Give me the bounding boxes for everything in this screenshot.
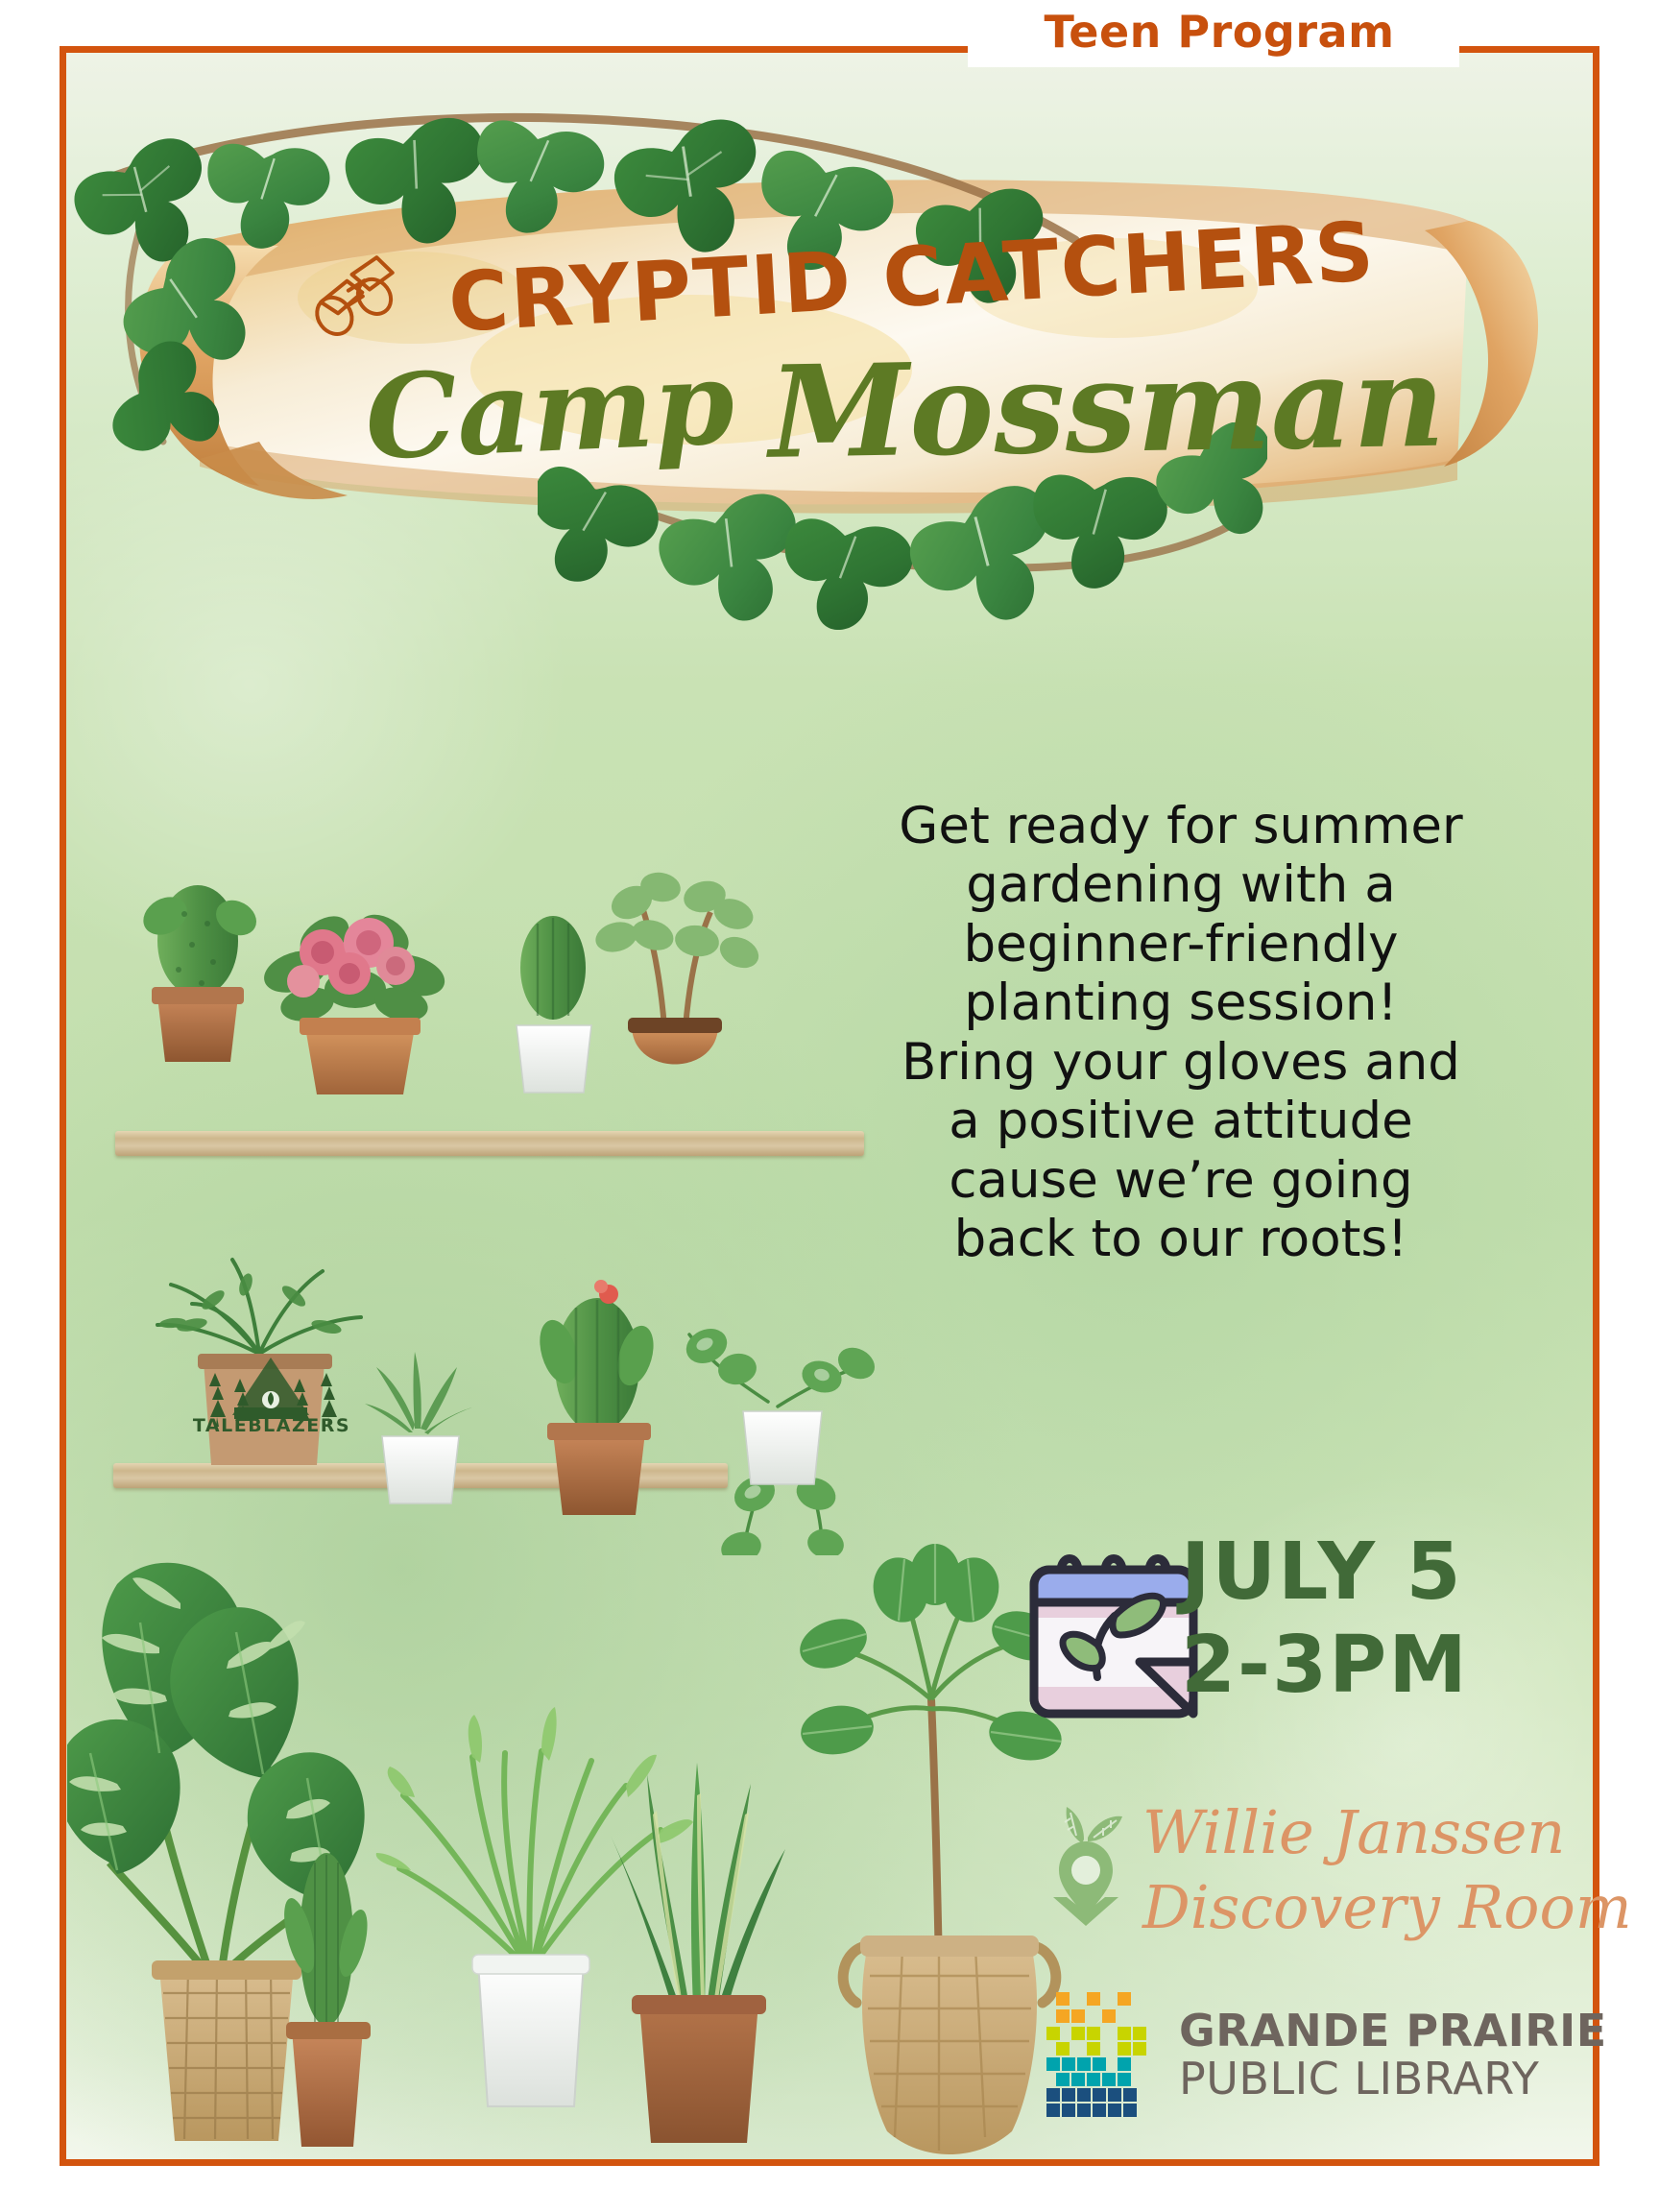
body-line-3: beginner-friendly xyxy=(864,915,1498,974)
title-word-mossman: Mossman xyxy=(768,327,1447,488)
taleblazers-label: TALEBLAZERS xyxy=(190,1415,353,1436)
taleblazers-pot-logo xyxy=(184,1344,357,1457)
map-pin-leaf-icon xyxy=(1042,1805,1130,1935)
poster-root: CRYPTID CATCHERS CampMossman xyxy=(0,0,1659,2212)
event-date: JULY 5 xyxy=(1181,1527,1555,1620)
body-line-2: gardening with a xyxy=(864,855,1498,914)
body-line-4: planting session! xyxy=(864,974,1498,1032)
library-logo: GRANDE PRAIRIE PUBLIC LIBRARY xyxy=(1046,1992,1607,2117)
body-line-8: back to our roots! xyxy=(864,1210,1498,1268)
event-location: Willie Janssen Discovery Room xyxy=(1142,1795,1575,1944)
body-line-1: Get ready for summer xyxy=(864,797,1498,855)
program-tag: Teen Program xyxy=(979,6,1459,58)
binoculars-icon xyxy=(301,248,418,348)
location-line-2: Discovery Room xyxy=(1142,1870,1575,1945)
event-time: 2-3PM xyxy=(1181,1620,1555,1713)
plant-group-bottom xyxy=(67,1527,1085,2160)
title-block: CRYPTID CATCHERS CampMossman xyxy=(115,221,1536,547)
body-line-5: Bring your gloves and xyxy=(864,1033,1498,1092)
location-line-1: Willie Janssen xyxy=(1142,1795,1575,1870)
event-datetime: JULY 5 2-3PM xyxy=(1181,1527,1555,1713)
library-name-line-1: GRANDE PRAIRIE xyxy=(1179,2008,1607,2053)
calendar-plant-icon xyxy=(1022,1541,1205,1733)
pixel-grid-logo-icon xyxy=(1046,1992,1160,2117)
body-line-7: cause we’re going xyxy=(864,1151,1498,1210)
library-name-line-2: PUBLIC LIBRARY xyxy=(1179,2056,1607,2101)
plant-group-top-shelf xyxy=(125,864,883,1138)
title-word-camp: Camp xyxy=(363,335,737,487)
body-line-6: a positive attitude xyxy=(864,1092,1498,1150)
body-copy: Get ready for summer gardening with a be… xyxy=(864,797,1498,1269)
library-logo-text: GRANDE PRAIRIE PUBLIC LIBRARY xyxy=(1179,2008,1607,2101)
